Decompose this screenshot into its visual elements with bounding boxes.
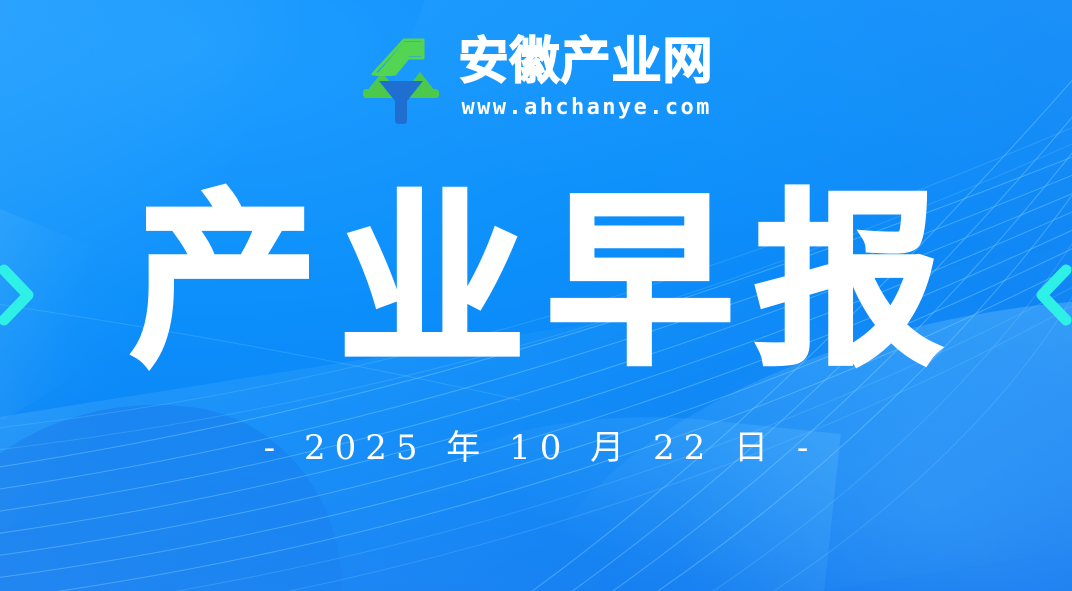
tree-funnel-logo-icon — [359, 34, 443, 126]
poster-canvas: 安徽产业网 www.ahchanye.com 产业早报 - 2025 年 10 … — [0, 0, 1072, 591]
page-title: 产业早报 — [0, 182, 1072, 382]
dateline: - 2025 年 10 月 22 日 - — [0, 425, 1072, 471]
bg-hill-bottom-left — [0, 376, 362, 591]
bg-swoosh-secondary — [393, 389, 841, 591]
brand-name: 安徽产业网 — [459, 32, 714, 90]
brand-lockup: 安徽产业网 www.ahchanye.com — [0, 32, 1072, 126]
brand-url: www.ahchanye.com — [459, 94, 712, 122]
brand-text-block: 安徽产业网 www.ahchanye.com — [459, 32, 714, 122]
